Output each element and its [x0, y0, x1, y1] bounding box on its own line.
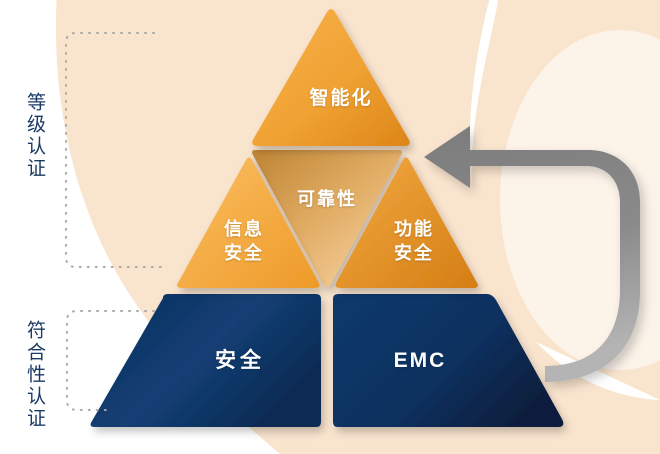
background-layer — [0, 0, 660, 454]
tier2-label-functional-safety: 功能 安全 — [366, 218, 462, 266]
tier2-label-reliability: 可靠性 — [272, 188, 382, 212]
tier1-label-intelligent: 智能化 — [286, 86, 396, 111]
side-label-level-certification: 等级认证 — [24, 92, 44, 180]
side-label-compliance-certification: 符合性认证 — [24, 320, 44, 430]
diagram-canvas: 等级认证 符合性认证 智能化 信息 安全 可靠性 功能 安全 安全 EMC — [0, 0, 660, 454]
tier3-label-safety: 安全 — [175, 347, 305, 375]
tier3-label-emc: EMC — [355, 347, 485, 375]
tier2-label-information-security: 信息 安全 — [196, 218, 292, 266]
